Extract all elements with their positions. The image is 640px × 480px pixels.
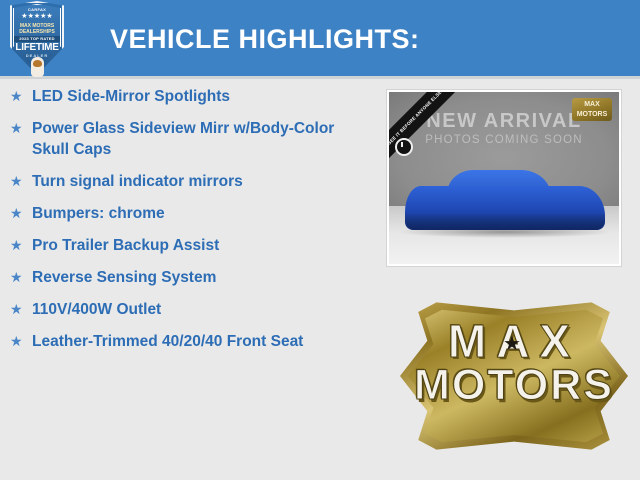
list-item: ★ Bumpers: chrome — [0, 203, 380, 224]
feature-label: Power Glass Sideview Mirr w/Body-Color S… — [32, 118, 372, 160]
photo-canvas: NEW ARRIVAL PHOTOS COMING SOON SEE IT BE… — [389, 92, 619, 264]
list-item: ★ Leather-Trimmed 40/20/40 Front Seat — [0, 331, 380, 352]
feature-label: Leather-Trimmed 40/20/40 Front Seat — [32, 331, 303, 352]
list-item: ★ Turn signal indicator mirrors — [0, 171, 380, 192]
star-bullet-icon: ★ — [10, 118, 32, 139]
logo-star-icon: ★ — [503, 334, 521, 354]
header-divider — [0, 76, 640, 79]
badge-dealer-name-line2: DEALERSHIPS — [10, 29, 64, 35]
list-item: ★ Reverse Sensing System — [0, 267, 380, 288]
clock-icon — [395, 138, 413, 156]
star-bullet-icon: ★ — [10, 171, 32, 192]
vehicle-highlights-page: VEHICLE HIGHLIGHTS: CARFAX ★★★★★ MAX MOT… — [0, 0, 640, 480]
max-motors-watermark: MAX MOTORS — [572, 98, 612, 121]
star-bullet-icon: ★ — [10, 331, 32, 352]
star-bullet-icon: ★ — [10, 86, 32, 107]
page-title: VEHICLE HIGHLIGHTS: — [110, 24, 420, 55]
list-item: ★ Power Glass Sideview Mirr w/Body-Color… — [0, 118, 380, 160]
badge-stars: ★★★★★ — [10, 13, 64, 21]
photo-subline: PHOTOS COMING SOON — [389, 134, 619, 146]
feature-label: 110V/400W Outlet — [32, 299, 161, 320]
watermark-line1: MAX — [572, 100, 612, 110]
vehicle-features-list: ★ LED Side-Mirror Spotlights ★ Power Gla… — [0, 86, 380, 363]
logo-text-motors: MOTORS — [400, 362, 628, 408]
feature-label: Reverse Sensing System — [32, 267, 216, 288]
star-bullet-icon: ★ — [10, 299, 32, 320]
max-motors-logo: MAX ★ MOTORS — [400, 296, 628, 456]
car-drape-shape — [405, 214, 605, 230]
watermark-line2: MOTORS — [572, 110, 612, 120]
feature-label: Bumpers: chrome — [32, 203, 165, 224]
carfax-lifetime-dealer-badge: CARFAX ★★★★★ MAX MOTORS DEALERSHIPS 2023… — [10, 1, 64, 81]
star-bullet-icon: ★ — [10, 235, 32, 256]
feature-label: Turn signal indicator mirrors — [32, 171, 243, 192]
dog-mascot-icon — [31, 57, 44, 77]
badge-award-label: LIFETIME — [10, 42, 64, 53]
list-item: ★ 110V/400W Outlet — [0, 299, 380, 320]
carfax-wordmark: CARFAX — [10, 7, 64, 12]
feature-label: LED Side-Mirror Spotlights — [32, 86, 230, 107]
list-item: ★ LED Side-Mirror Spotlights — [0, 86, 380, 107]
list-item: ★ Pro Trailer Backup Assist — [0, 235, 380, 256]
star-bullet-icon: ★ — [10, 203, 32, 224]
feature-label: Pro Trailer Backup Assist — [32, 235, 219, 256]
vehicle-photo-placeholder[interactable]: NEW ARRIVAL PHOTOS COMING SOON SEE IT BE… — [386, 89, 622, 267]
star-bullet-icon: ★ — [10, 267, 32, 288]
covered-car-illustration — [405, 166, 605, 230]
